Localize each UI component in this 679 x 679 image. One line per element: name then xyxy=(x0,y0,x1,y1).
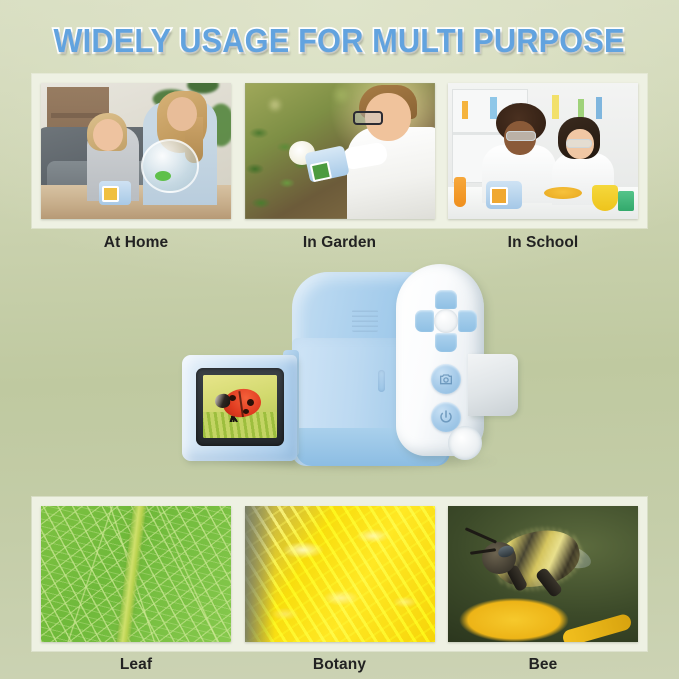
usage-photo-at-home xyxy=(41,83,231,219)
product-image-handheld-digital-microscope xyxy=(0,250,679,500)
camera-icon xyxy=(438,371,454,387)
school-scene-icon xyxy=(448,83,638,219)
usage-photo-panel xyxy=(32,74,647,228)
home-scene-icon xyxy=(41,83,231,219)
side-notch xyxy=(378,370,385,392)
sample-photo-botany xyxy=(245,506,435,642)
caption-bee: Bee xyxy=(448,656,638,674)
chevron-up-icon[interactable] xyxy=(435,290,457,309)
sample-caption-row: Leaf Botany Bee xyxy=(32,652,647,678)
caption-botany: Botany xyxy=(245,656,435,674)
hand-strap xyxy=(468,354,518,416)
capture-button[interactable] xyxy=(431,364,461,394)
sample-photo-leaf xyxy=(41,506,231,642)
usage-photo-in-garden xyxy=(245,83,435,219)
power-icon xyxy=(438,409,454,425)
caption-leaf: Leaf xyxy=(41,656,231,674)
garden-scene-icon xyxy=(245,83,435,219)
poster-title-container: WIDELY USAGE FOR MULTI PURPOSE xyxy=(0,20,679,64)
leaf-sample-icon xyxy=(41,506,231,642)
sample-photo-bee xyxy=(448,506,638,642)
bee-sample-icon xyxy=(448,506,638,642)
ok-button-icon[interactable] xyxy=(434,309,458,333)
vent-grille-icon xyxy=(352,310,378,332)
product-feature-poster: WIDELY USAGE FOR MULTI PURPOSE xyxy=(0,0,679,679)
dpad-control[interactable] xyxy=(415,290,477,352)
usage-photo-in-school xyxy=(448,83,638,219)
chevron-right-icon[interactable] xyxy=(458,310,477,332)
botany-sample-icon xyxy=(245,506,435,642)
chevron-down-icon[interactable] xyxy=(435,333,457,352)
sample-photo-panel xyxy=(32,497,647,651)
lcd-screen xyxy=(203,375,277,438)
chevron-left-icon[interactable] xyxy=(415,310,434,332)
lens-ring xyxy=(448,426,482,460)
page-title: WIDELY USAGE FOR MULTI PURPOSE xyxy=(54,20,625,62)
